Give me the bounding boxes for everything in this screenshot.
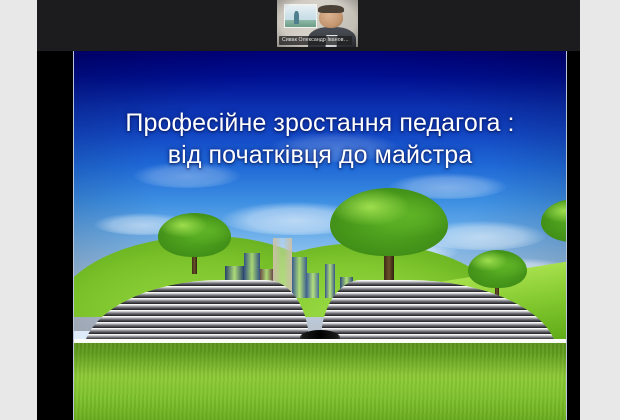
participant-video-tile[interactable]: Сивак Олександр Іванов… <box>277 0 358 47</box>
meeting-stage: Професійне зростання педагога : від поча… <box>37 0 580 420</box>
tree-canopy <box>158 213 232 257</box>
field-texture <box>74 343 566 420</box>
meeting-window: Професійне зростання педагога : від поча… <box>0 0 620 420</box>
shared-slide[interactable]: Професійне зростання педагога : від поча… <box>73 51 567 420</box>
tree-canopy <box>330 188 448 256</box>
tree-far-right <box>541 199 567 258</box>
tree-left <box>158 213 232 272</box>
tree-canopy <box>541 199 567 243</box>
participant-name-label: Сивак Олександр Іванов… <box>279 36 352 45</box>
tree-center-big <box>330 188 448 280</box>
